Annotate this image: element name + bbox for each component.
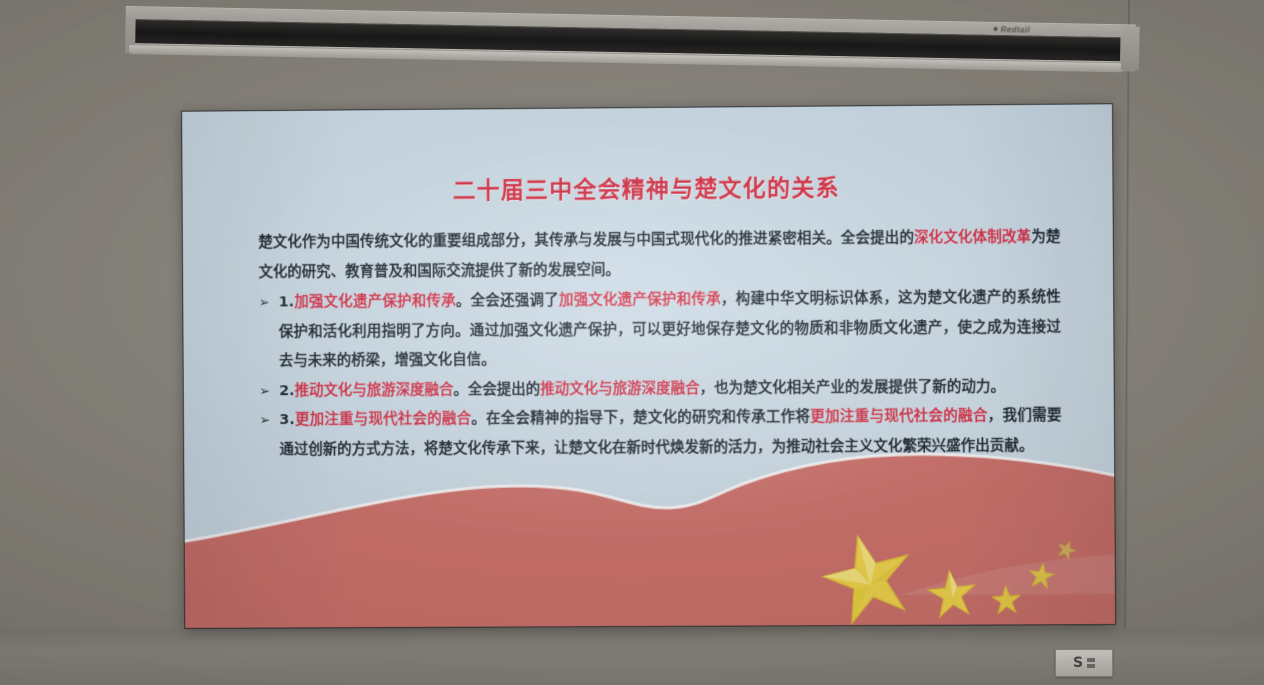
wall-sign-plate: S [1055,649,1113,677]
housing-endcap [1121,26,1140,70]
bullet-arrow-icon: ➢ [259,377,270,406]
star-small-1 [923,566,981,623]
list-item: ➢1.加强文化遗产保护和传承。全会还强调了加强文化遗产保护和传承，构建中华文明标… [259,283,1062,377]
slide-title: 二十届三中全会精神与楚文化的关系 [182,166,1112,207]
wall-sign-bars-icon [1087,658,1095,668]
brand-dot-icon [994,27,998,31]
wall-sign-symbol: S [1073,655,1083,671]
list-item: ➢3.更加注重与现代社会的融合。在全会精神的指导下，楚文化的研究和传承工作将更加… [259,402,1061,466]
item-highlight-1: 更加注重与现代社会的融合 [295,411,471,428]
item-number: 3. [279,412,295,428]
list-item: ➢2.推动文化与旅游深度融合。全会提出的推动文化与旅游深度融合，也为楚文化相关产… [259,372,1061,406]
bullet-arrow-icon: ➢ [259,406,270,435]
item-highlight-1: 加强文化遗产保护和传承 [294,293,456,310]
projection-area: 二十届三中全会精神与楚文化的关系 楚文化作为中国传统文化的重要组成部分，其传承与… [182,108,1112,626]
intro-paragraph: 楚文化作为中国传统文化的重要组成部分，其传承与发展与中国式现代化的推进紧密相关。… [258,223,1060,288]
item-highlight-2: 加强文化遗产保护和传承 [559,292,721,309]
item-highlight-2: 推动文化与旅游深度融合 [540,380,700,397]
item-number: 2. [279,383,295,399]
housing-brand-label: Redtail [994,25,1031,35]
item-highlight-1: 推动文化与旅游深度融合 [295,382,454,399]
slide-body: 楚文化作为中国传统文化的重要组成部分，其传承与发展与中国式现代化的推进紧密相关。… [258,223,1062,465]
item-highlight-2: 更加注重与现代社会的融合 [810,408,988,425]
intro-highlight-1: 深化文化体制改革 [914,229,1031,246]
presentation-slide: 二十届三中全会精神与楚文化的关系 楚文化作为中国传统文化的重要组成部分，其传承与… [182,104,1115,628]
star-small-3 [1026,560,1058,592]
brand-text: Redtail [1001,25,1031,35]
item-seg-1: 。全会提出的 [453,381,540,397]
item-number: 1. [279,294,295,310]
item-seg-1: 。全会还强调了 [456,293,559,310]
item-seg-1: 。在全会精神的指导下，楚文化的研究和传承工作将 [471,409,810,427]
intro-seg-1: 楚文化作为中国传统文化的重要组成部分，其传承与发展与中国式现代化的推进紧密相关。… [258,230,914,251]
item-seg-2: ，也为楚文化相关产业的发展提供了新的动力。 [700,378,1006,396]
room-scene: Redtail [0,0,1264,685]
bullet-arrow-icon: ➢ [259,289,270,318]
star-small-2 [989,584,1023,618]
